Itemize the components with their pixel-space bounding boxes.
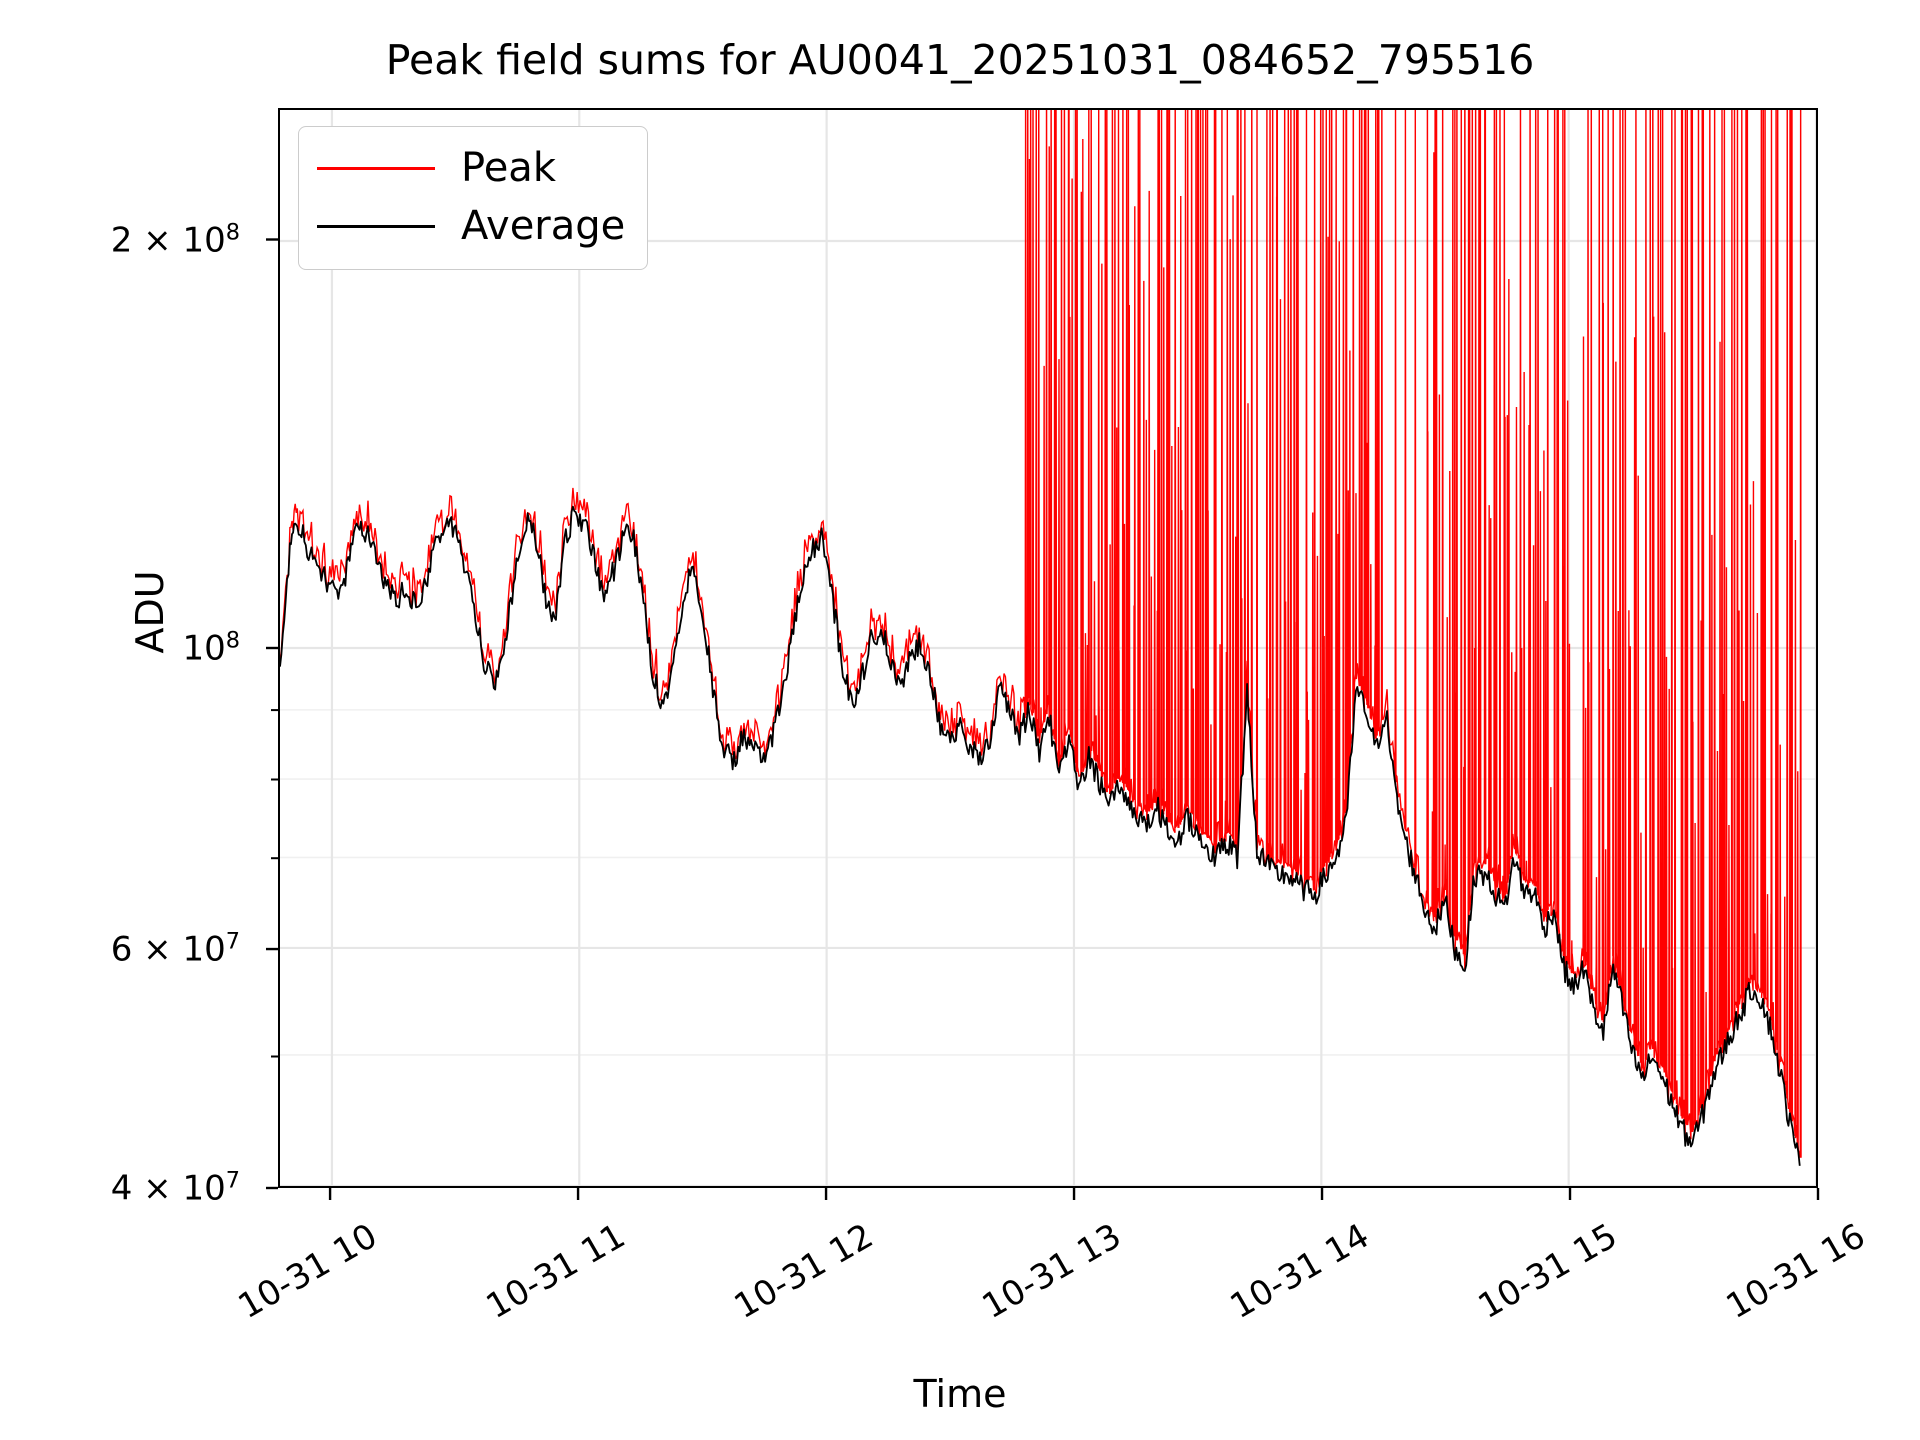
y-tick-label: 6 × 107 — [111, 928, 240, 969]
legend-label-peak: Peak — [461, 148, 556, 188]
plot-area — [278, 108, 1818, 1188]
x-tick-label: 10-31 13 — [976, 1216, 1128, 1327]
y-tick-label: 4 × 107 — [111, 1167, 240, 1208]
figure-canvas: Peak field sums for AU0041_20251031_0846… — [0, 0, 1920, 1440]
legend-label-average: Average — [461, 206, 625, 246]
legend-entry-peak: Peak — [317, 139, 625, 197]
x-tick-label: 10-31 11 — [480, 1216, 632, 1327]
x-tick-label: 10-31 10 — [232, 1216, 384, 1327]
x-tick-label: 10-31 12 — [728, 1216, 880, 1327]
x-tick-label: 10-31 15 — [1472, 1216, 1624, 1327]
chart-legend: Peak Average — [298, 126, 648, 270]
x-tick-label-group: 10-31 1010-31 1110-31 1210-31 1310-31 14… — [278, 1200, 1818, 1370]
legend-swatch-average — [317, 225, 435, 228]
y-tick-label: 108 — [182, 627, 240, 668]
chart-title: Peak field sums for AU0041_20251031_0846… — [0, 36, 1920, 84]
x-tick-label: 10-31 16 — [1720, 1216, 1872, 1327]
y-tick-label: 2 × 108 — [111, 219, 240, 260]
series-layer — [280, 110, 1816, 1186]
x-tick-label: 10-31 14 — [1224, 1216, 1376, 1327]
x-axis-title: Time — [0, 1372, 1920, 1416]
legend-swatch-peak — [317, 167, 435, 170]
legend-entry-average: Average — [317, 197, 625, 255]
y-tick-label-group: 2 × 1081086 × 1074 × 107 — [0, 108, 262, 1188]
